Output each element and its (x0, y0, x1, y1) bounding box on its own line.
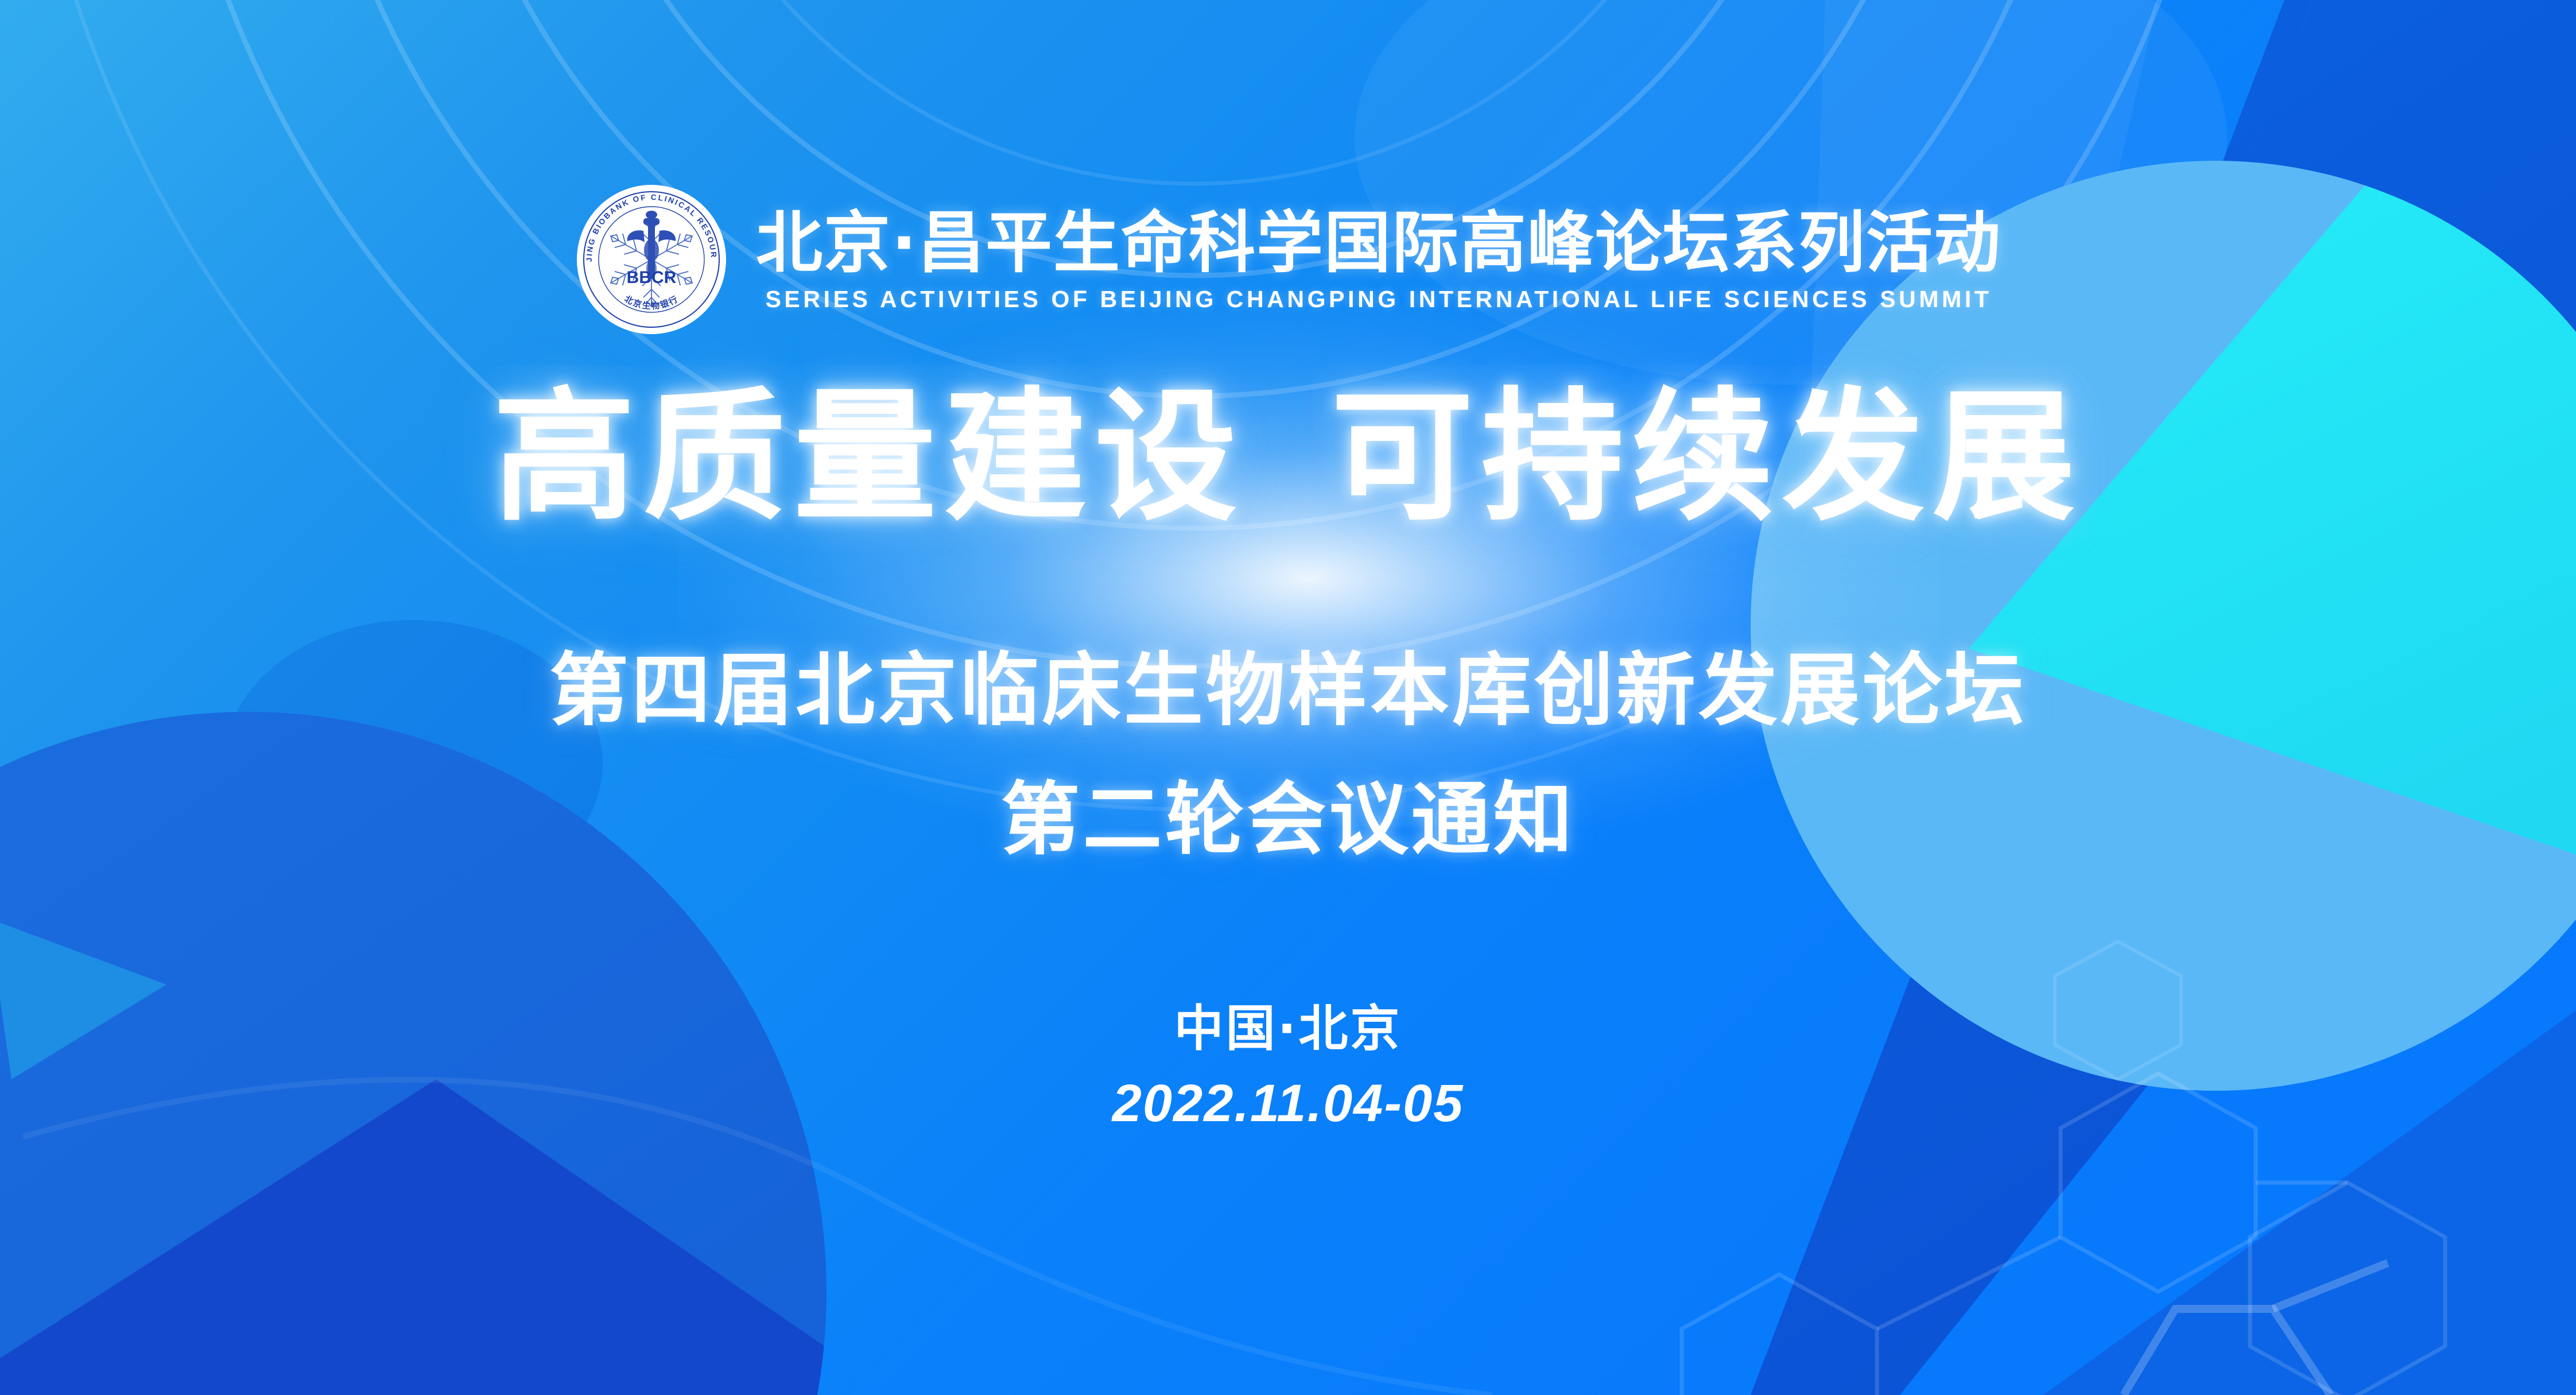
organization-title-en: SERIES ACTIVITIES OF BEIJING CHANGPING I… (765, 285, 1992, 313)
forum-subtitle-line1: 第四届北京临床生物样本库创新发展论坛 (0, 643, 2576, 738)
hero-headline-part1: 高质量建设 (493, 375, 1245, 540)
seal-acronym: BBCR (627, 268, 677, 287)
header-row: BEIJING BIOBANK OF CLINICAL RESOURCES 北京… (0, 183, 2576, 336)
organization-title-block: 北京·昌平生命科学国际高峰论坛系列活动 SERIES ACTIVITIES OF… (756, 206, 2001, 313)
bbcr-biobank-seal-icon: BEIJING BIOBANK OF CLINICAL RESOURCES 北京… (575, 183, 728, 336)
event-date: 2022.11.04-05 (0, 1072, 2576, 1135)
event-location: 中国·北京 (0, 999, 2576, 1059)
seal-svg: BEIJING BIOBANK OF CLINICAL RESOURCES 北京… (575, 183, 728, 336)
hero-headline-part2: 可持续发展 (1331, 375, 2083, 540)
forum-subtitle-line2: 第二轮会议通知 (0, 772, 2576, 867)
footer-block: 中国·北京 2022.11.04-05 (0, 999, 2576, 1135)
organization-title-cn: 北京·昌平生命科学国际高峰论坛系列活动 (756, 206, 2001, 281)
content-layer: BEIJING BIOBANK OF CLINICAL RESOURCES 北京… (0, 0, 2576, 1395)
hero-headline: 高质量建设可持续发展 (0, 376, 2576, 540)
conference-banner: BEIJING BIOBANK OF CLINICAL RESOURCES 北京… (0, 0, 2576, 1395)
